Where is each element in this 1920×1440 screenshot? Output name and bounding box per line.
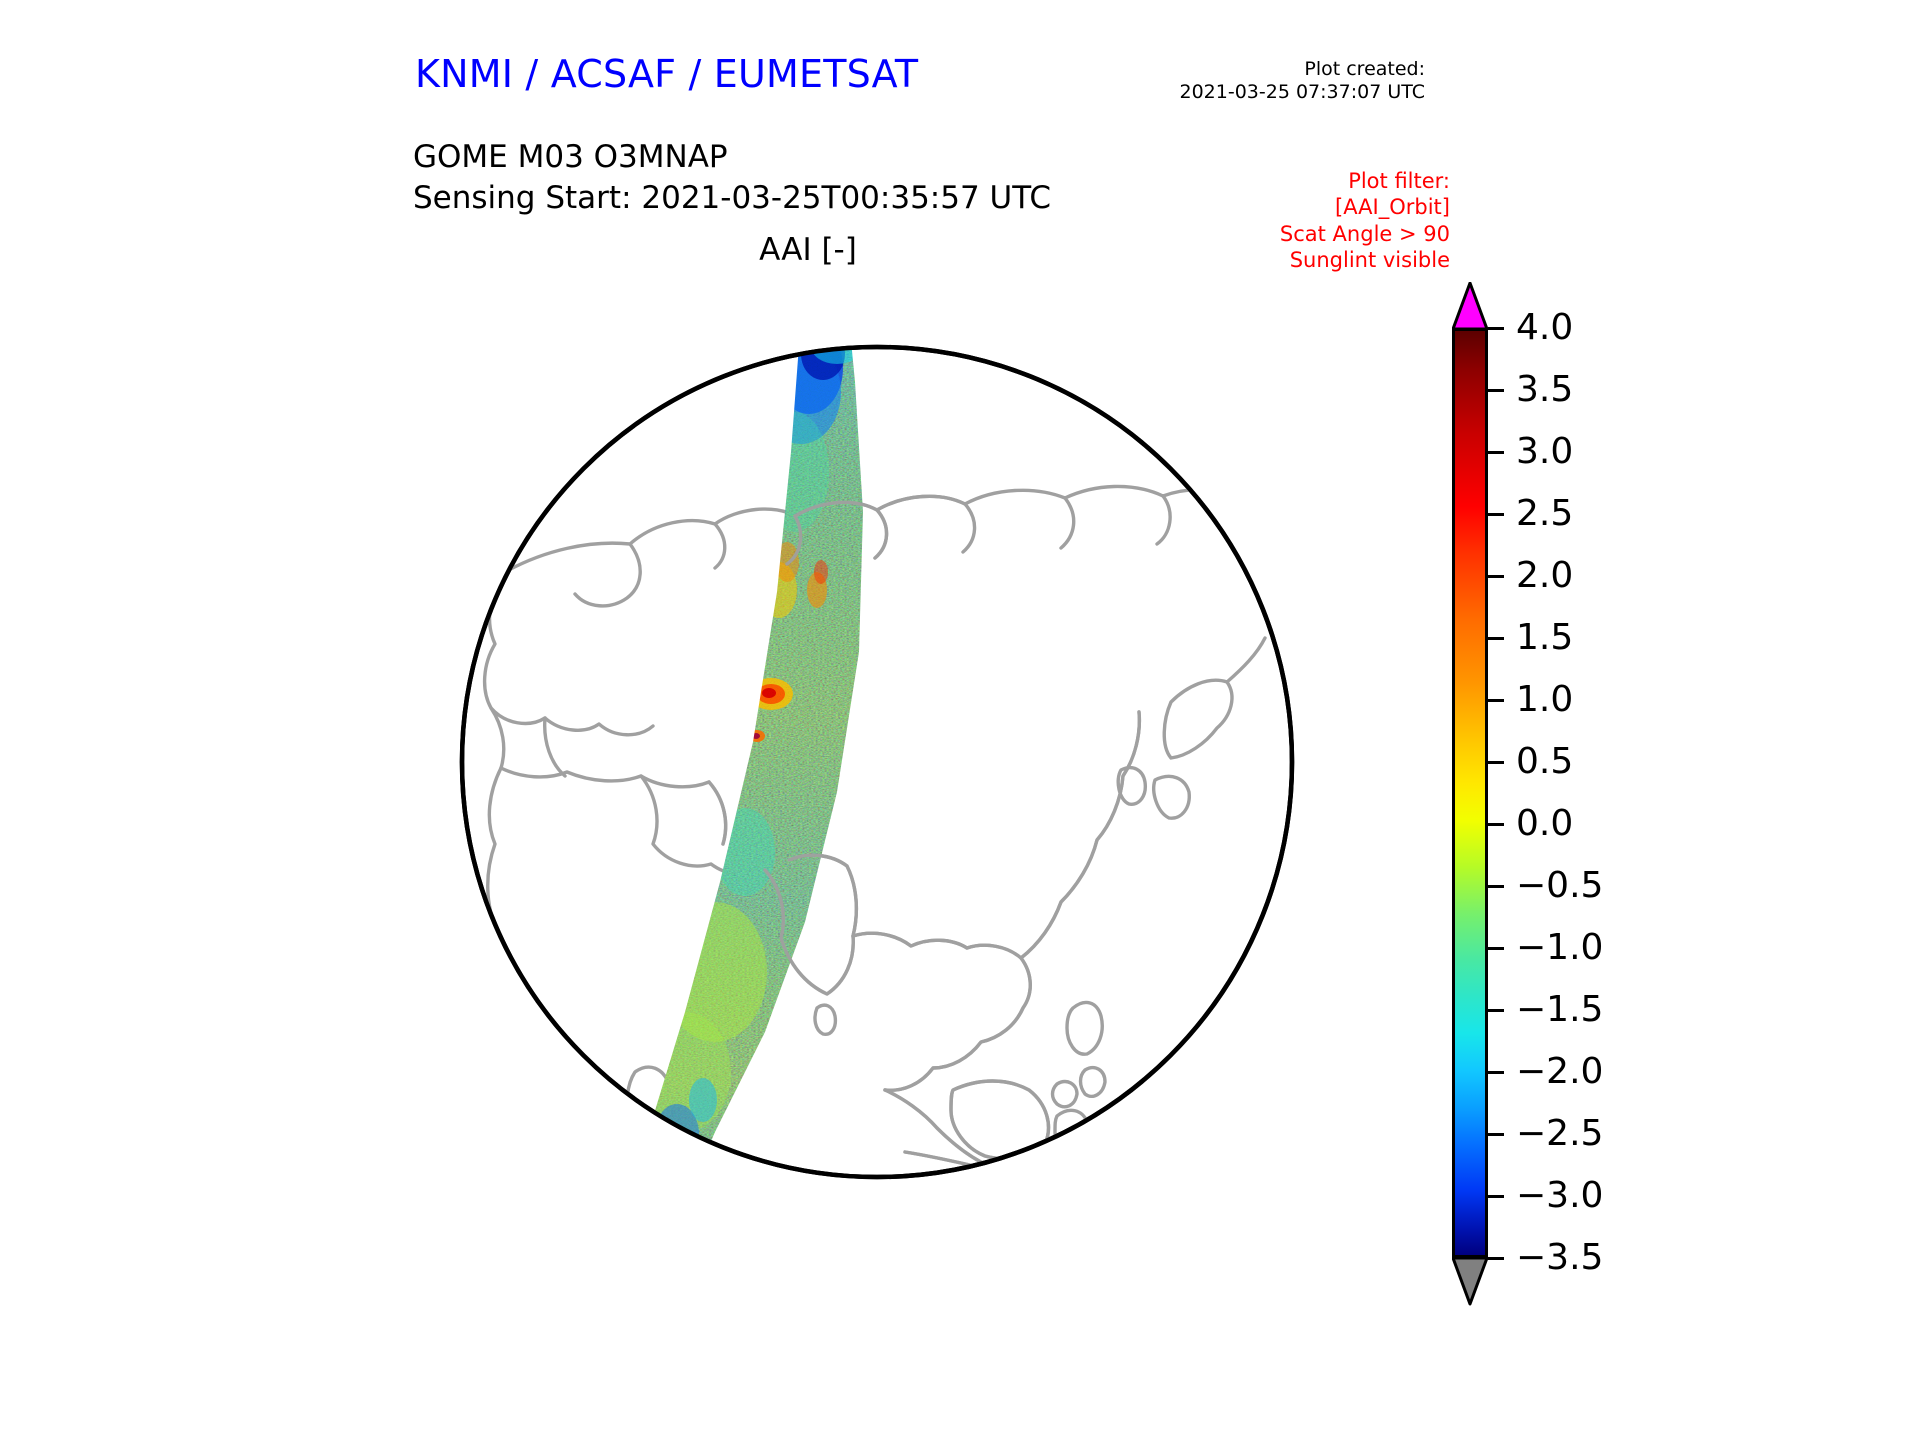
colorbar-tick-mark <box>1488 575 1504 578</box>
quantity-title: AAI [-] <box>413 232 1203 268</box>
colorbar-tick-mark <box>1488 1195 1504 1198</box>
globe-disk <box>462 347 1292 1177</box>
colorbar-tick-label: 2.0 <box>1516 558 1573 594</box>
colorbar-ticks: 4.03.53.02.52.01.51.00.50.0−0.5−1.0−1.5−… <box>1430 280 1690 1360</box>
dataset-name: GOME M03 O3MNAP <box>413 137 1051 178</box>
colorbar-tick-label: −3.5 <box>1516 1240 1603 1276</box>
colorbar-tick-label: −1.5 <box>1516 992 1603 1028</box>
plot-filter-block: Plot filter: [AAI_Orbit] Scat Angle > 90… <box>1280 168 1450 274</box>
colorbar-tick-label: −0.5 <box>1516 868 1603 904</box>
plot-created-timestamp: 2021-03-25 07:37:07 UTC <box>1180 81 1426 104</box>
colorbar-tick-label: 0.0 <box>1516 806 1573 842</box>
colorbar-tick-label: 2.5 <box>1516 496 1573 532</box>
plot-filter-scat-angle: Scat Angle > 90 <box>1280 221 1450 247</box>
colorbar-tick-label: 3.0 <box>1516 434 1573 470</box>
colorbar-tick-mark <box>1488 1133 1504 1136</box>
colorbar-tick-label: 1.0 <box>1516 682 1573 718</box>
colorbar-tick-label: −1.0 <box>1516 930 1603 966</box>
plot-created-block: Plot created: 2021-03-25 07:37:07 UTC <box>1180 58 1426 104</box>
colorbar-tick-mark <box>1488 947 1504 950</box>
organisation-title: KNMI / ACSAF / EUMETSAT <box>415 52 918 96</box>
dataset-block: GOME M03 O3MNAP Sensing Start: 2021-03-2… <box>413 137 1051 219</box>
colorbar-tick-mark <box>1488 513 1504 516</box>
sensing-start: Sensing Start: 2021-03-25T00:35:57 UTC <box>413 178 1051 219</box>
map-plot-area <box>385 272 1385 1292</box>
colorbar-tick-label: −2.0 <box>1516 1054 1603 1090</box>
colorbar-tick-mark <box>1488 451 1504 454</box>
colorbar-tick-mark <box>1488 761 1504 764</box>
globe-orthographic-map <box>385 272 1385 1292</box>
colorbar-tick-mark <box>1488 699 1504 702</box>
colorbar-tick-label: −2.5 <box>1516 1116 1603 1152</box>
colorbar-tick-mark <box>1488 1071 1504 1074</box>
colorbar-tick-mark <box>1488 885 1504 888</box>
colorbar-tick-mark <box>1488 327 1504 330</box>
colorbar-tick-label: 1.5 <box>1516 620 1573 656</box>
colorbar: 4.03.53.02.52.01.51.00.50.0−0.5−1.0−1.5−… <box>1430 280 1690 1360</box>
plot-created-label: Plot created: <box>1180 58 1426 81</box>
colorbar-tick-mark <box>1488 1257 1504 1260</box>
plot-filter-sunglint: Sunglint visible <box>1280 247 1450 273</box>
plot-filter-title: Plot filter: <box>1280 168 1450 194</box>
colorbar-tick-label: −3.0 <box>1516 1178 1603 1214</box>
colorbar-tick-label: 0.5 <box>1516 744 1573 780</box>
colorbar-tick-label: 4.0 <box>1516 310 1573 346</box>
colorbar-tick-mark <box>1488 637 1504 640</box>
colorbar-tick-mark <box>1488 823 1504 826</box>
plot-filter-product: [AAI_Orbit] <box>1280 194 1450 220</box>
colorbar-tick-label: 3.5 <box>1516 372 1573 408</box>
colorbar-tick-mark <box>1488 389 1504 392</box>
colorbar-tick-mark <box>1488 1009 1504 1012</box>
